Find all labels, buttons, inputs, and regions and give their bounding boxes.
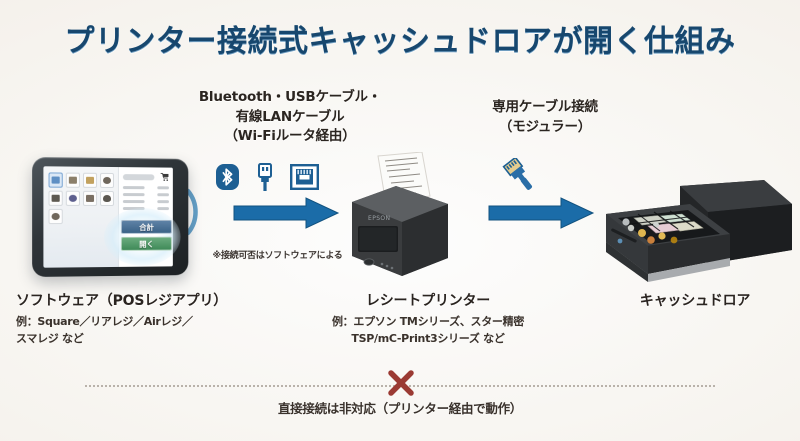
pos-app-panel — [43, 166, 118, 267]
chart-icon[interactable] — [83, 173, 97, 188]
x-mark-icon — [386, 368, 416, 398]
person-icon[interactable] — [100, 191, 114, 206]
connector-icon-row — [215, 162, 319, 192]
receipt-title-placeholder — [123, 174, 154, 180]
receipt-row — [123, 186, 169, 189]
flower-icon[interactable] — [66, 191, 80, 206]
cash-drawer-device[interactable] — [596, 178, 794, 288]
right-caption-line-2: （モジュラー） — [450, 118, 640, 138]
cart-icon-small[interactable] — [160, 172, 169, 181]
open-drawer-button[interactable]: 開く — [121, 237, 172, 251]
left-caption-line-3: （Wi-Fiルータ経由） — [150, 127, 430, 147]
left-caption-line-2: 有線LANケーブル — [150, 108, 430, 128]
bluetooth-icon — [215, 163, 240, 191]
receipt-row — [123, 193, 169, 196]
software-example-line-1: 例：Square／リアレジ／Airレジ／ — [16, 314, 254, 331]
software-heading: ソフトウェア（POSレジアプリ） — [16, 290, 254, 310]
infographic-canvas: プリンター接続式キャッシュドロアが開く仕組み Bluetooth・USBケーブル… — [0, 0, 800, 441]
right-connection-caption: 専用ケーブル接続 （モジュラー） — [450, 98, 640, 137]
pos-action-buttons: 合計 開く — [121, 220, 172, 251]
svg-text:EPSON: EPSON — [368, 215, 390, 222]
receipt-printer-device[interactable]: EPSON — [338, 152, 454, 280]
printer-example-line-1: 例：エプソン TMシリーズ、スター精密 — [278, 314, 578, 331]
software-examples: 例：Square／リアレジ／Airレジ／ スマレジ など — [16, 314, 254, 347]
pos-tablet[interactable]: 合計 開く — [32, 157, 188, 277]
node-label-printer: レシートプリンター 例：エプソン TMシリーズ、スター精密 TSP/mC-Pri… — [278, 290, 578, 347]
gear-icon[interactable] — [100, 173, 114, 188]
barcode-icon[interactable] — [83, 191, 97, 206]
receipt-row — [123, 200, 169, 203]
software-example-line-2: スマレジ など — [16, 331, 254, 348]
cash-drawer-heading: キャッシュドロア — [590, 290, 800, 310]
settings-icon[interactable] — [49, 209, 63, 224]
node-label-software: ソフトウェア（POSレジアプリ） 例：Square／リアレジ／Airレジ／ スマ… — [4, 290, 254, 347]
printer-heading: レシートプリンター — [278, 290, 578, 310]
printer-examples: 例：エプソン TMシリーズ、スター精密 TSP/mC-Print3シリーズ など — [278, 314, 578, 347]
app-icon-grid — [49, 172, 115, 224]
tablet-screen[interactable] — [43, 166, 172, 267]
left-caption-line-1: Bluetooth・USBケーブル・ — [150, 88, 430, 108]
arrow-printer-to-drawer — [487, 196, 595, 230]
total-button[interactable]: 合計 — [121, 220, 172, 234]
footer-note: 直接接続は非対応（プリンター経由で動作） — [0, 398, 800, 417]
page-title: プリンター接続式キャッシュドロアが開く仕組み — [0, 16, 800, 60]
node-label-cash-drawer: キャッシュドロア — [590, 290, 800, 310]
receipt-header — [123, 172, 169, 181]
receipt-row — [123, 207, 169, 210]
receipt-preview-panel — [118, 167, 173, 267]
folder-icon[interactable] — [66, 173, 80, 188]
right-caption-line-1: 専用ケーブル接続 — [450, 98, 640, 118]
lan-port-icon — [290, 164, 319, 190]
modular-plug-icon — [497, 158, 539, 196]
receipt-line-items — [123, 186, 169, 210]
left-connection-caption: Bluetooth・USBケーブル・ 有線LANケーブル （Wi-Fiルータ経由… — [150, 88, 430, 147]
printer-example-line-2: TSP/mC-Print3シリーズ など — [278, 331, 578, 348]
cart-icon[interactable] — [49, 191, 63, 206]
register-icon[interactable] — [49, 172, 63, 187]
arrow-software-to-printer — [232, 196, 340, 230]
usb-icon — [254, 162, 276, 192]
